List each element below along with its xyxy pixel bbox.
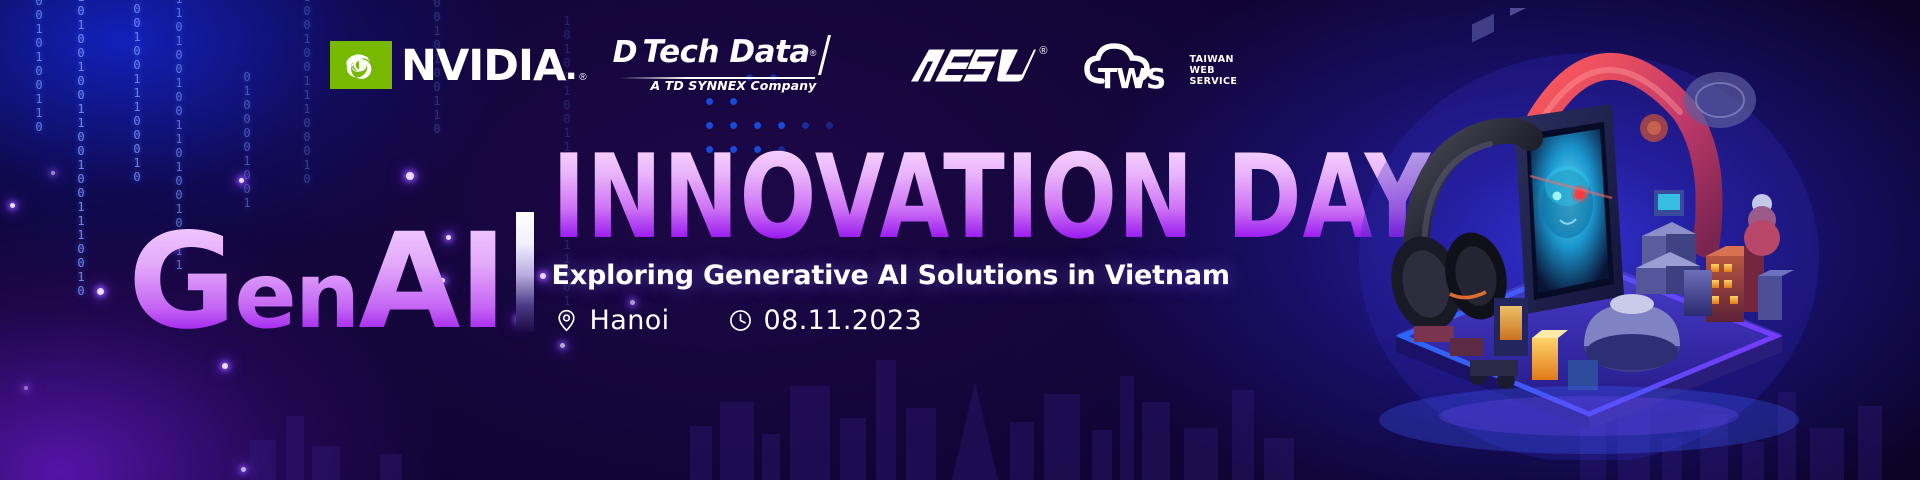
meta-date: 08.11.2023	[728, 305, 923, 336]
logo-tws: TWS TAIWAN WEB SERVICE	[1080, 38, 1237, 92]
nvidia-registered-mark: ®	[579, 72, 586, 83]
clock-icon	[728, 308, 753, 333]
innovation-day-title: INNOVATION DAY	[552, 148, 1431, 248]
meta-location: Hanoi	[554, 305, 670, 336]
nvidia-period: .	[565, 41, 577, 90]
particle-dot	[51, 171, 55, 175]
particle-dot	[97, 288, 104, 295]
date-label: 08.11.2023	[764, 305, 923, 336]
particle-dot	[241, 467, 246, 472]
genai-ai: AI	[358, 205, 505, 359]
tech-data-wordmark: Tech Data	[642, 37, 809, 68]
tech-data-tagline: A TD SYNNEX Company	[613, 78, 817, 93]
particle-dot	[222, 363, 228, 369]
genai-innovation-day-banner: 0010100110 1010010011001001110010 100100…	[0, 0, 1920, 480]
tech-data-slash	[818, 35, 831, 75]
particle-dot	[560, 343, 565, 348]
tech-data-monogram: D	[613, 38, 637, 68]
tech-data-registered-mark: ®	[810, 48, 817, 58]
tws-tagline-line3: SERVICE	[1189, 76, 1237, 87]
logo-nvidia: NVIDIA . ®	[330, 41, 585, 90]
svg-text:TWS: TWS	[1098, 62, 1165, 92]
binary-column: 1010010011001001110010	[74, 0, 87, 298]
ai-isometric-city-illustration	[1354, 8, 1824, 460]
location-label: Hanoi	[590, 305, 670, 336]
genai-logotype: GenAI	[128, 227, 506, 338]
binary-column: 0010100110	[32, 0, 45, 134]
logo-tech-data: D Tech Data ® A TD SYNNEX Company	[613, 37, 825, 93]
asus-registered-mark: ®	[1039, 45, 1047, 57]
asus-wordmark-icon	[910, 47, 1036, 83]
particle-dot	[24, 386, 28, 390]
tech-data-underline	[618, 77, 814, 79]
tws-tagline-line1: TAIWAN	[1189, 54, 1237, 65]
partner-logo-row: NVIDIA . ® D Tech Data ® A TD SYNNEX Com…	[330, 34, 1237, 96]
nvidia-wordmark: NVIDIA	[401, 45, 565, 88]
tws-tagline: TAIWAN WEB SERVICE	[1189, 54, 1237, 87]
particle-dot	[10, 203, 15, 208]
tws-tagline-line2: WEB	[1189, 65, 1237, 76]
headline-divider-bar	[516, 212, 534, 332]
genai-g: G	[128, 205, 234, 359]
genai-en: en	[234, 242, 358, 349]
logo-asus: ®	[910, 47, 1036, 83]
nvidia-eye-icon	[330, 41, 392, 89]
map-pin-icon	[554, 308, 579, 333]
